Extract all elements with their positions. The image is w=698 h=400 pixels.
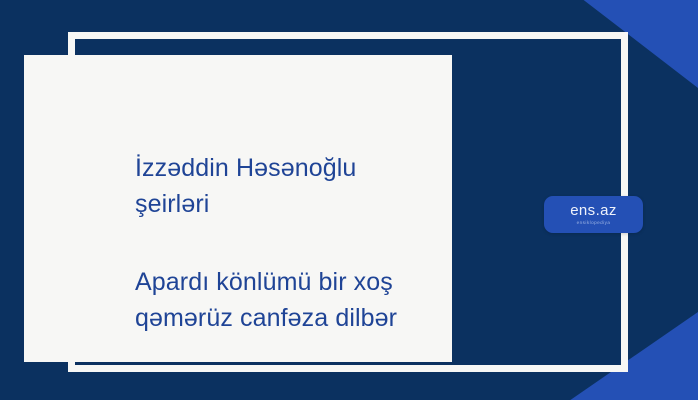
- poem-line: Apardı könlümü bir xoş qəmərüz canfəza d…: [135, 265, 452, 336]
- slide-title: İzzəddin Həsənoğlu şeirləri: [135, 151, 452, 222]
- slide-canvas: İzzəddin Həsənoğlu şeirləri Apardı könlü…: [0, 0, 698, 400]
- ens-az-logo-badge[interactable]: ens.az ensiklopediya: [544, 196, 643, 233]
- card-text-group: İzzəddin Həsənoğlu şeirləri Apardı könlü…: [135, 151, 452, 336]
- logo-tagline: ensiklopediya: [577, 221, 611, 226]
- logo-wordmark: ens.az: [570, 203, 617, 218]
- content-card: İzzəddin Həsənoğlu şeirləri Apardı könlü…: [24, 55, 452, 362]
